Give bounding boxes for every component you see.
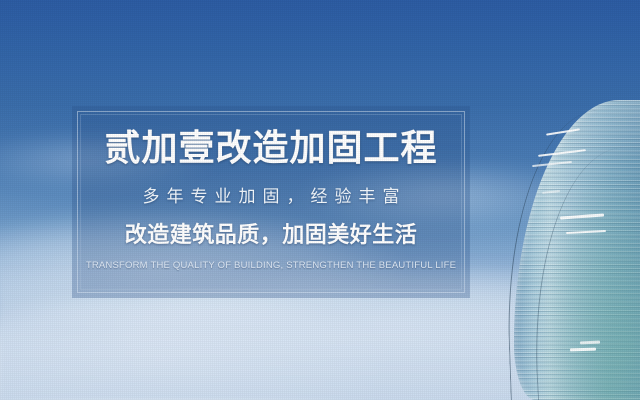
banner-slogan: 改造建筑品质，加固美好生活: [125, 224, 418, 246]
skyscraper: [480, 0, 640, 400]
banner-subtitle: 多年专业加固，经验丰富: [136, 188, 407, 205]
banner-english-tagline: TRANSFORM THE QUALITY OF BUILDING, STREN…: [86, 261, 456, 271]
text-panel: 贰加壹改造加固工程 多年专业加固，经验丰富 改造建筑品质，加固美好生活 TRAN…: [72, 106, 470, 298]
panel-content: 贰加壹改造加固工程 多年专业加固，经验丰富 改造建筑品质，加固美好生活 TRAN…: [72, 106, 470, 298]
banner-image: 贰加壹改造加固工程 多年专业加固，经验丰富 改造建筑品质，加固美好生活 TRAN…: [0, 0, 640, 400]
banner-title: 贰加壹改造加固工程: [104, 130, 437, 166]
